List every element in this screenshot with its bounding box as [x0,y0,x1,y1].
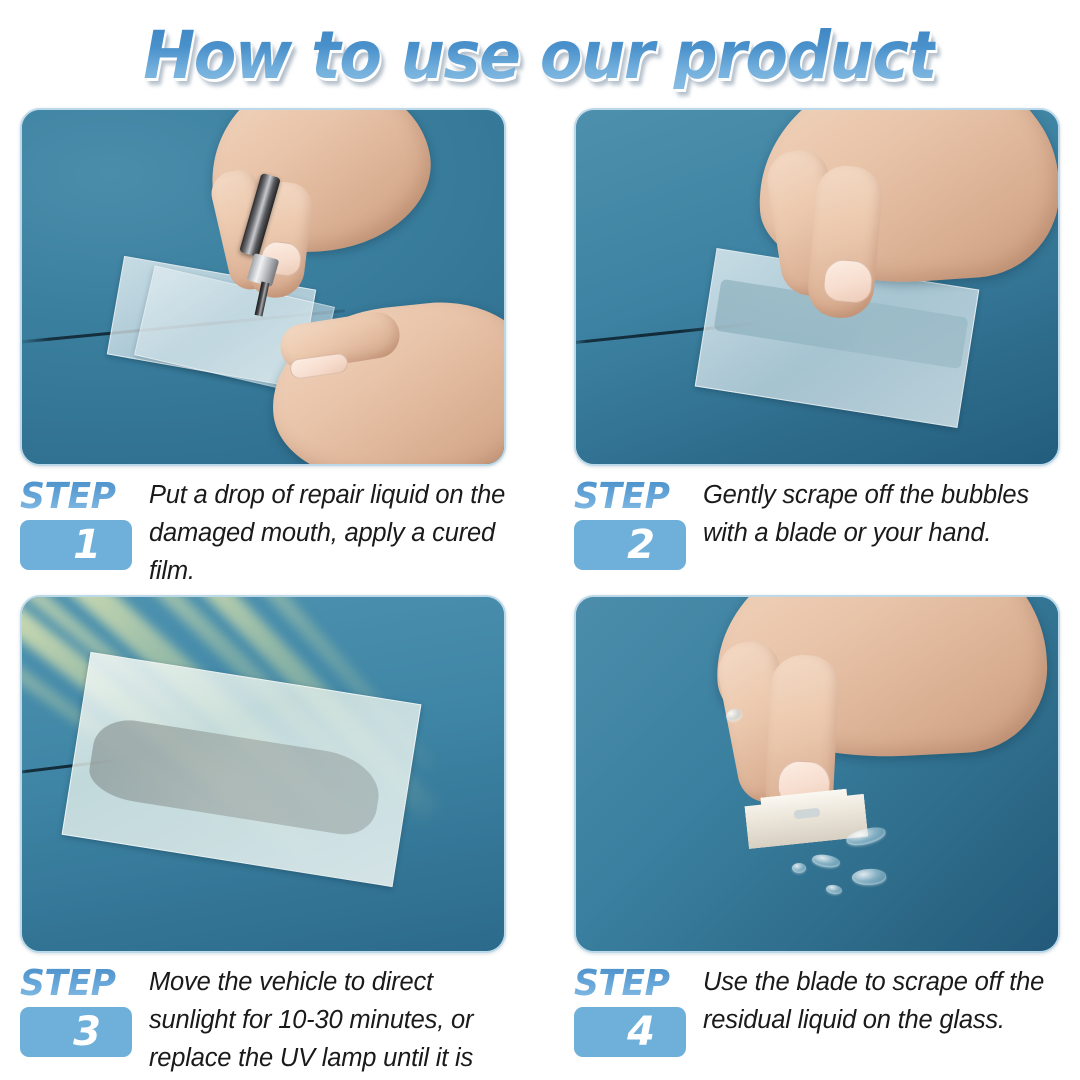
step-caption-2: STEP 2 Gently scrape off the bubbles wit… [574,474,1060,570]
step-description: Gently scrape off the bubbles with a bla… [703,474,1060,552]
step-photo-1 [20,108,506,466]
steps-grid: STEP 1 Put a drop of repair liquid on th… [20,108,1060,1068]
step-badge-1: STEP 1 [20,474,135,570]
step-number: 1 [73,525,101,565]
step-number-box: 2 [574,520,686,570]
step-label: STEP [574,965,684,1003]
step-number: 4 [627,1012,655,1052]
step-label: STEP [20,478,130,516]
step-number-box: 1 [20,520,132,570]
step-photo-4 [574,595,1060,953]
step-label: STEP [20,965,130,1003]
step-caption-3: STEP 3 Move the vehicle to direct sunlig… [20,961,506,1080]
step-number: 2 [627,525,655,565]
step-label: STEP [574,478,684,516]
step-photo-3 [20,595,506,953]
step-card-1: STEP 1 Put a drop of repair liquid on th… [20,108,506,594]
infographic-page: How to use our product [0,0,1080,1080]
step-photo-2 [574,108,1060,466]
page-title: How to use our product [144,23,937,89]
step-description: Put a drop of repair liquid on the damag… [149,474,506,590]
step-description: Move the vehicle to direct sunlight for … [149,961,506,1080]
step-caption-4: STEP 4 Use the blade to scrape off the r… [574,961,1060,1057]
page-title-container: How to use our product [0,14,1080,98]
step-card-2: STEP 2 Gently scrape off the bubbles wit… [574,108,1060,594]
step-caption-1: STEP 1 Put a drop of repair liquid on th… [20,474,506,590]
step-badge-3: STEP 3 [20,961,135,1057]
step-number-box: 3 [20,1007,132,1057]
step-description: Use the blade to scrape off the residual… [703,961,1060,1039]
step-number-box: 4 [574,1007,686,1057]
step-card-3: STEP 3 Move the vehicle to direct sunlig… [20,595,506,1080]
step-number: 3 [73,1012,101,1052]
step-badge-4: STEP 4 [574,961,689,1057]
step-card-4: STEP 4 Use the blade to scrape off the r… [574,595,1060,1080]
liquid-droplet-icon [792,863,806,873]
step-badge-2: STEP 2 [574,474,689,570]
